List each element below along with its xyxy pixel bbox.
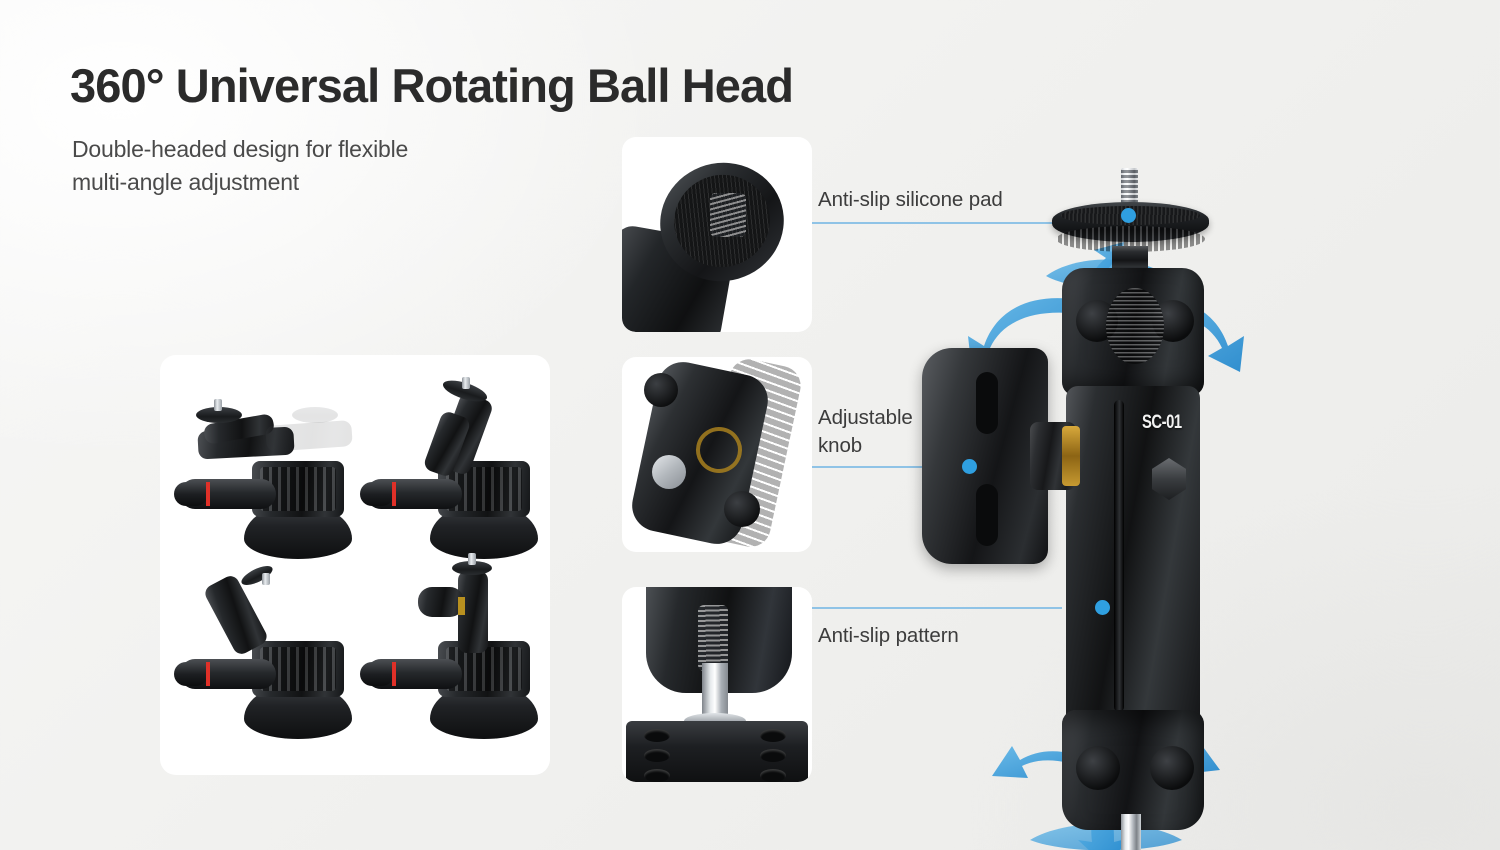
plate-hole — [760, 729, 786, 742]
silicone-pad-illustration — [622, 137, 812, 332]
subtitle-line-2: multi-angle adjustment — [72, 166, 408, 199]
page-subtitle: Double-headed design for flexible multi-… — [72, 133, 408, 198]
knob-slot-lower — [976, 484, 998, 546]
plate-hole — [760, 769, 786, 782]
upper-knurled-ball — [1106, 288, 1164, 364]
detail-panel-silicone-pad — [622, 137, 812, 332]
pump-tip — [360, 482, 394, 506]
center-column — [1066, 386, 1200, 726]
ghost-plate — [292, 407, 338, 423]
knob-illustration — [622, 357, 812, 552]
pump-tip — [174, 662, 208, 686]
lower-chrome-post — [1121, 814, 1141, 850]
callout-dot-silicone-pad — [1121, 208, 1136, 223]
knob-slot-upper — [976, 372, 998, 434]
config-tilted-left — [174, 563, 369, 773]
callout-dot-adjustable-knob — [962, 459, 977, 474]
ghost-arm — [265, 420, 353, 452]
plate-hole — [760, 749, 786, 762]
product-marketing-banner: 360° Universal Rotating Ball Head Double… — [0, 0, 1500, 850]
knob-gold-collar — [1062, 426, 1080, 486]
pump-tip — [360, 662, 394, 686]
quarter-inch-screw — [710, 193, 746, 237]
lower-socket-right — [1150, 746, 1194, 790]
anti-slip-illustration — [622, 587, 812, 782]
red-indicator-band — [392, 482, 396, 506]
detail-panel-anti-slip-pattern — [622, 587, 812, 782]
lower-socket-left — [1076, 746, 1120, 790]
red-indicator-band — [392, 662, 396, 686]
mount-screw — [214, 399, 222, 411]
config-angled-up — [360, 383, 555, 593]
model-number-label: SC-01 — [1142, 412, 1182, 434]
pivot-hub-top — [644, 373, 678, 407]
pump-tip — [174, 482, 208, 506]
plate-hole — [644, 769, 670, 782]
configuration-grid-card — [160, 355, 550, 775]
detail-panel-adjustable-knob — [622, 357, 812, 552]
ball-head-arm — [202, 573, 269, 657]
mount-screw — [462, 377, 470, 389]
subtitle-line-1: Double-headed design for flexible — [72, 133, 408, 166]
silver-cap — [652, 455, 686, 489]
mount-screw — [468, 553, 476, 565]
red-indicator-band — [206, 662, 210, 686]
red-indicator-band — [206, 482, 210, 506]
callout-dot-anti-slip-pattern — [1095, 600, 1110, 615]
plate-hole — [644, 749, 670, 762]
plate-hole — [644, 729, 670, 742]
pivot-hub-bottom — [724, 491, 760, 527]
config-folded-flat — [174, 383, 369, 593]
threaded-screw — [698, 605, 728, 671]
gold-collar — [458, 597, 465, 615]
hero-product-ball-head: SC-01 Ulanzi — [880, 150, 1300, 850]
mount-screw — [262, 573, 270, 585]
column-groove — [1114, 400, 1124, 712]
page-title: 360° Universal Rotating Ball Head — [70, 58, 793, 113]
config-vertical — [360, 563, 555, 773]
